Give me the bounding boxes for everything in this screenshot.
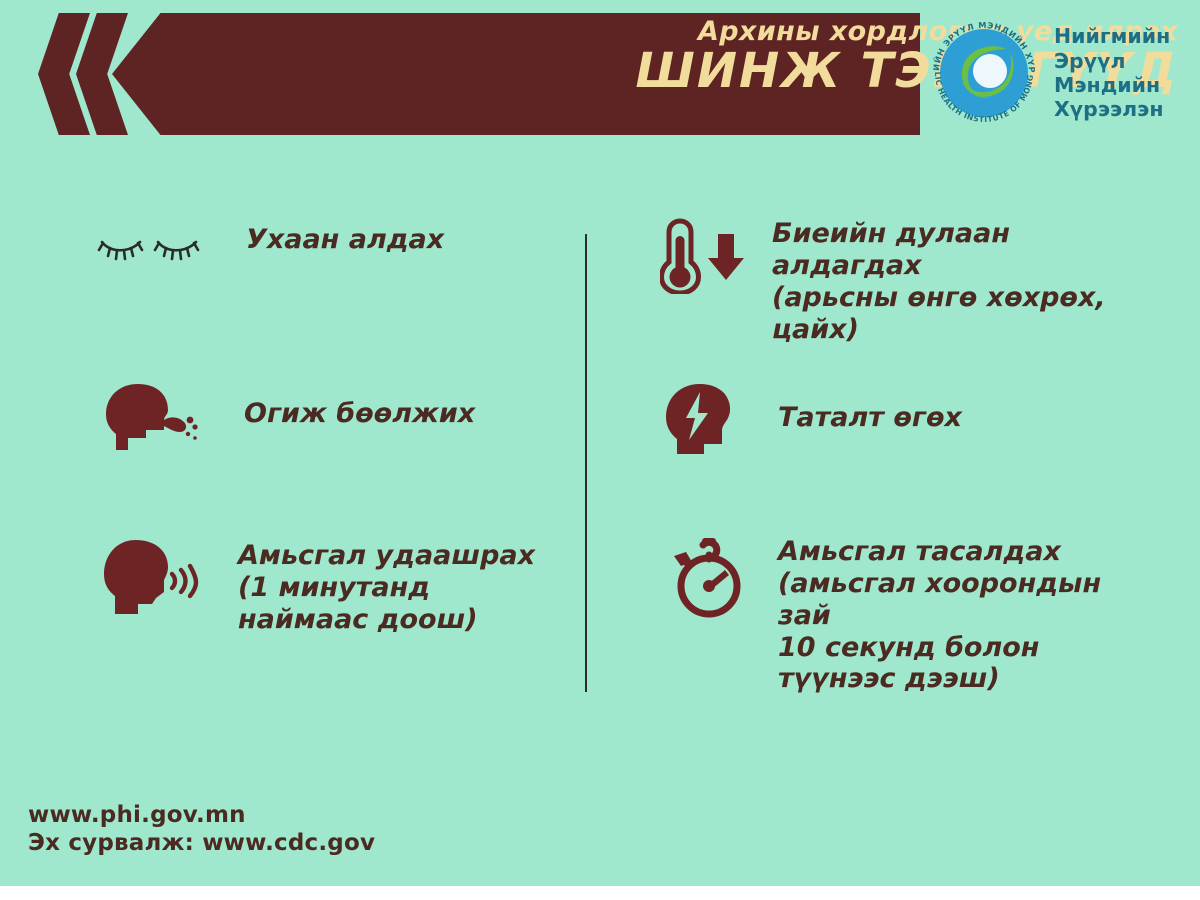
symptom-label: Амьсгал тасалдах (амьсгал хоорондын зай … [778,536,1160,695]
logo-name-line-2: Эрүүл [1054,49,1170,73]
stopwatch-icon [664,536,752,620]
column-divider [585,234,587,692]
slow-breathing-head-icon [102,538,200,618]
symptom-item: Таталт өгөх [664,382,962,456]
symptom-label: Ухаан алдах [246,224,444,256]
seizure-head-icon [664,382,752,456]
phi-seal-icon: НИЙГМИЙН ЭРҮҮЛ МЭНДИЙН ХҮРЭЭЛЭН · PUBLIC… [922,11,1046,135]
symptom-columns: Ухаан алдах [0,196,1200,716]
organization-logo: НИЙГМИЙН ЭРҮҮЛ МЭНДИЙН ХҮРЭЭЛЭН · PUBLIC… [922,8,1192,138]
symptom-item: Амьсгал тасалдах (амьсгал хоорондын зай … [664,536,1160,695]
symptom-label: Огиж бөөлжих [244,398,475,430]
symptom-label: Амьсгал удаашрах (1 минутанд наймаас доо… [238,540,535,636]
footer: www.phi.gov.mn Эх сурвалж: www.cdc.gov [28,801,375,859]
vomiting-head-icon [102,382,200,454]
symptom-item: Ухаан алдах [96,222,444,268]
closed-eyes-icon [96,222,204,268]
header: Архины хордлогын үед илрэх ШИНЖ ТЭМДГҮҮД [0,0,1200,150]
logo-name-line-4: Хүрээлэн [1054,97,1170,121]
poster: Архины хордлогын үед илрэх ШИНЖ ТЭМДГҮҮД [0,0,1200,886]
logo-name-line-1: Нийгмийн [1054,24,1170,48]
symptom-label: Биеийн дулаан алдагдах (арьсны өнгө хөхр… [772,218,1160,345]
source-link[interactable]: Эх сурвалж: www.cdc.gov [28,829,375,858]
thermometer-down-icon [660,218,752,294]
bottom-strip [0,886,1200,900]
organization-name: Нийгмийн Эрүүл Мэндийн Хүрээлэн [1054,24,1170,122]
symptom-item: Амьсгал удаашрах (1 минутанд наймаас доо… [102,538,535,636]
symptom-item: Биеийн дулаан алдагдах (арьсны өнгө хөхр… [660,218,1160,345]
logo-name-line-3: Мэндийн [1054,73,1170,97]
symptom-item: Огиж бөөлжих [102,382,475,454]
symptom-label: Таталт өгөх [778,402,962,434]
website-link[interactable]: www.phi.gov.mn [28,801,375,830]
